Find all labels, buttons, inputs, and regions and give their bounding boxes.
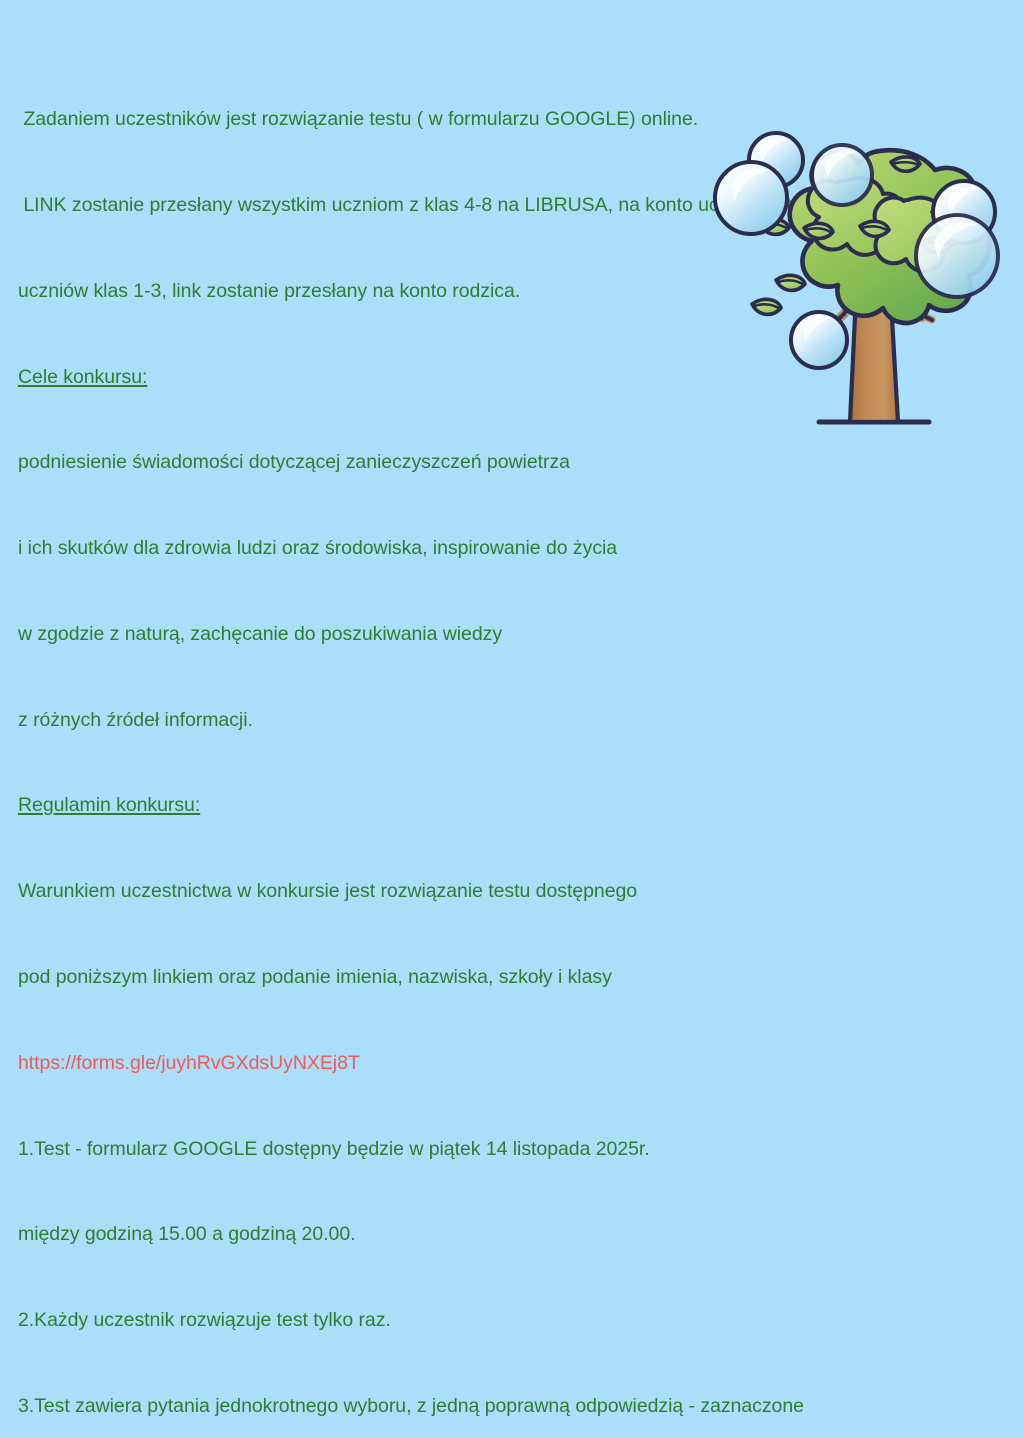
rule-item-3a: 3.Test zawiera pytania jednokrotnego wyb… bbox=[18, 1392, 978, 1421]
rule-item-1b: między godziną 15.00 a godziną 20.00. bbox=[18, 1220, 978, 1249]
google-form-link[interactable]: https://forms.gle/juyhRvGXdsUyNXEj8T bbox=[18, 1049, 978, 1078]
heading-regulamin-konkursu: Regulamin konkursu: bbox=[18, 791, 978, 820]
rule-item-2: 2.Każdy uczestnik rozwiązuje test tylko … bbox=[18, 1306, 978, 1335]
text-line-5: podniesienie świadomości dotyczącej zani… bbox=[18, 448, 978, 477]
text-line-10: Warunkiem uczestnictwa w konkursie jest … bbox=[18, 877, 978, 906]
heading-cele-konkursu: Cele konkursu: bbox=[18, 363, 978, 392]
text-line-8: z różnych źródeł informacji. bbox=[18, 706, 978, 735]
text-line-7: w zgodzie z naturą, zachęcanie do poszuk… bbox=[18, 620, 978, 649]
text-line-1: Zadaniem uczestników jest rozwiązanie te… bbox=[18, 105, 978, 134]
text-line-2: LINK zostanie przesłany wszystkim ucznio… bbox=[18, 191, 978, 220]
announcement-text-block: Zadaniem uczestników jest rozwiązanie te… bbox=[18, 48, 978, 1438]
text-line-6: i ich skutków dla zdrowia ludzi oraz śro… bbox=[18, 534, 978, 563]
rule-item-1a: 1.Test - formularz GOOGLE dostępny będzi… bbox=[18, 1135, 978, 1164]
text-line-11: pod poniższym linkiem oraz podanie imien… bbox=[18, 963, 978, 992]
poster-canvas: Zadaniem uczestników jest rozwiązanie te… bbox=[0, 0, 1024, 719]
text-line-3: uczniów klas 1-3, link zostanie przesłan… bbox=[18, 277, 978, 306]
